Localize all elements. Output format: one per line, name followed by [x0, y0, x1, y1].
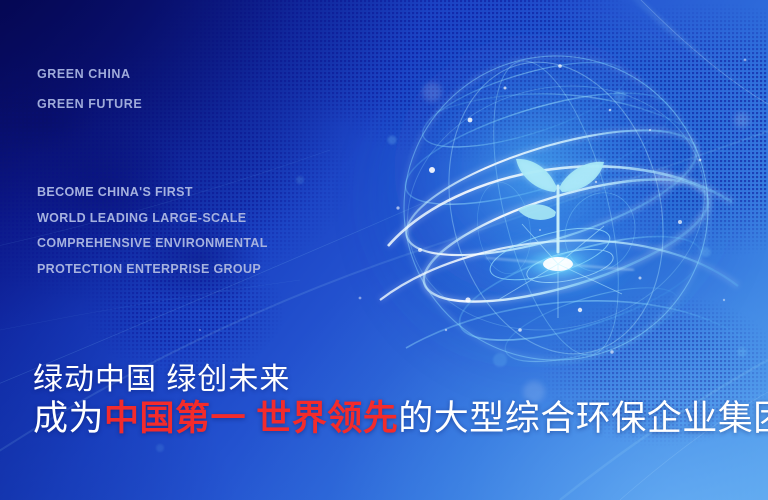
statement-block: BECOME CHINA'S FIRST WORLD LEADING LARGE… [37, 186, 268, 288]
statement-line-3: COMPREHENSIVE ENVIRONMENTAL [37, 237, 268, 250]
headline-block: 绿动中国 绿创未来 成为中国第一 世界领先的大型综合环保企业集团 [33, 363, 768, 438]
headline-line-1: 绿动中国 绿创未来 [33, 363, 768, 397]
tagline-line-2: GREEN FUTURE [37, 98, 142, 111]
headline-suffix: 的大型综合环保企业集团 [398, 399, 768, 438]
statement-line-1: BECOME CHINA'S FIRST [37, 186, 268, 199]
headline-highlight: 中国第一 世界领先 [104, 399, 398, 438]
statement-line-4: PROTECTION ENTERPRISE GROUP [37, 263, 268, 276]
promotional-banner: GREEN CHINA GREEN FUTURE BECOME CHINA'S … [0, 0, 768, 500]
statement-line-2: WORLD LEADING LARGE-SCALE [37, 212, 268, 225]
tagline-line-1: GREEN CHINA [37, 68, 142, 81]
tagline-block: GREEN CHINA GREEN FUTURE [37, 68, 142, 127]
headline-prefix: 成为 [33, 399, 104, 438]
headline-line-2: 成为中国第一 世界领先的大型综合环保企业集团 [33, 399, 768, 439]
